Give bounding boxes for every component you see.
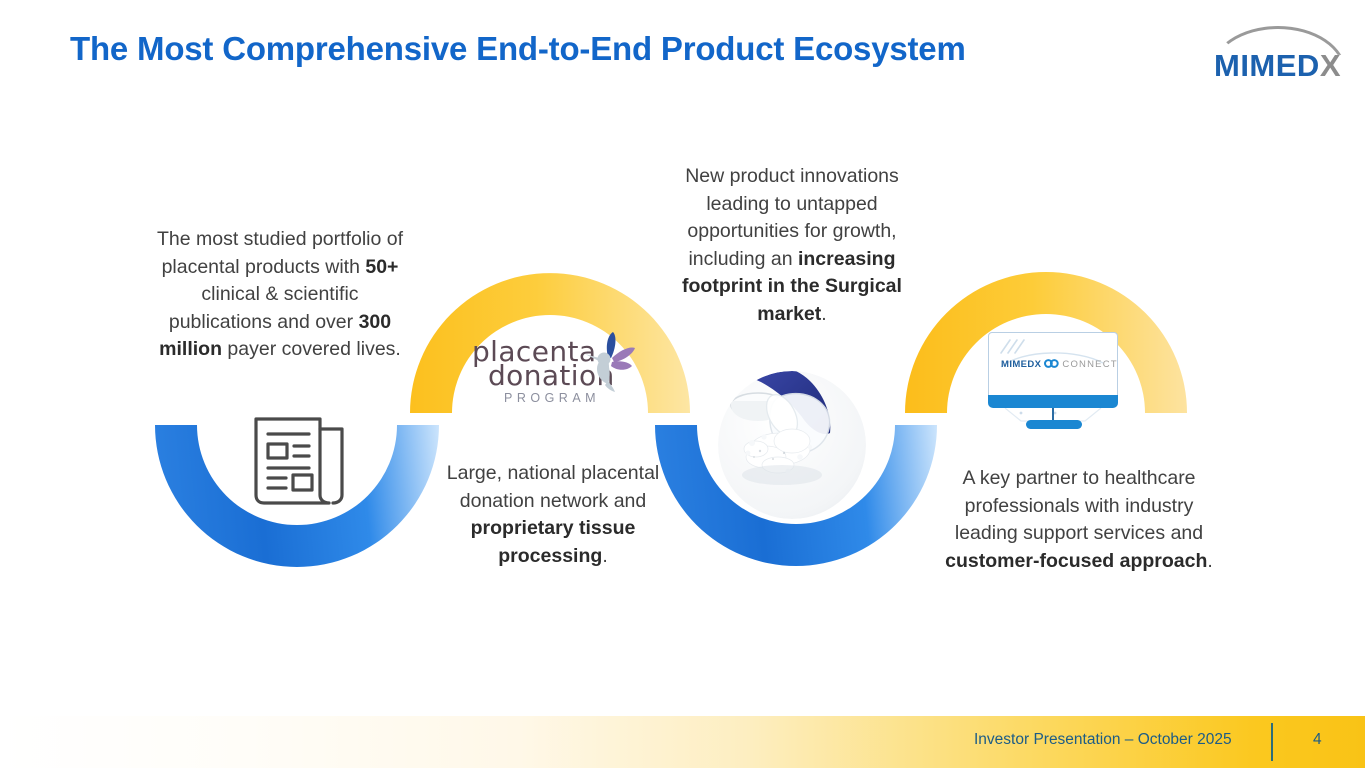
newspaper-publication-icon: [248, 415, 350, 507]
page-title: The Most Comprehensive End-to-End Produc…: [70, 30, 966, 68]
hummingbird-icon: [575, 331, 639, 393]
logo-wordmark: MIMEDX: [1214, 48, 1341, 84]
blurb-donation-network: Large, national placental donation netwo…: [438, 460, 668, 570]
blurb-partner: A key partner to healthcare professional…: [934, 465, 1224, 575]
mimedx-connect-graphic: MIMEDX CONNECT: [983, 332, 1123, 430]
placenta-donation-program-logo: placenta donation PROGRAM: [470, 333, 638, 423]
footer-divider: [1271, 723, 1273, 761]
logo-wordmark-accent: X: [1320, 48, 1341, 83]
footer-caption: Investor Presentation – October 2025: [974, 731, 1232, 749]
monitor-screen: MIMEDX CONNECT: [988, 332, 1118, 396]
connect-brand-text: MIMEDX CONNECT: [1001, 359, 1118, 371]
blurb-innovation: New product innovations leading to untap…: [666, 163, 918, 328]
powder-jar-photo: [718, 371, 866, 519]
monitor-stand-base: [1026, 420, 1082, 429]
connect-label: CONNECT: [1062, 359, 1117, 370]
mimedx-logo: MIMEDX: [1196, 26, 1356, 82]
blurb-publications: The most studied portfolio of placental …: [148, 226, 412, 364]
logo-wordmark-primary: MIMED: [1214, 48, 1320, 83]
footer-page-number: 4: [1313, 731, 1322, 749]
placenta-logo-line-3: PROGRAM: [504, 391, 600, 405]
connect-brand-mimedx: MIMEDX: [1001, 359, 1041, 370]
infinity-link-icon: [1044, 359, 1059, 371]
monitor-base-bar: [988, 395, 1118, 408]
